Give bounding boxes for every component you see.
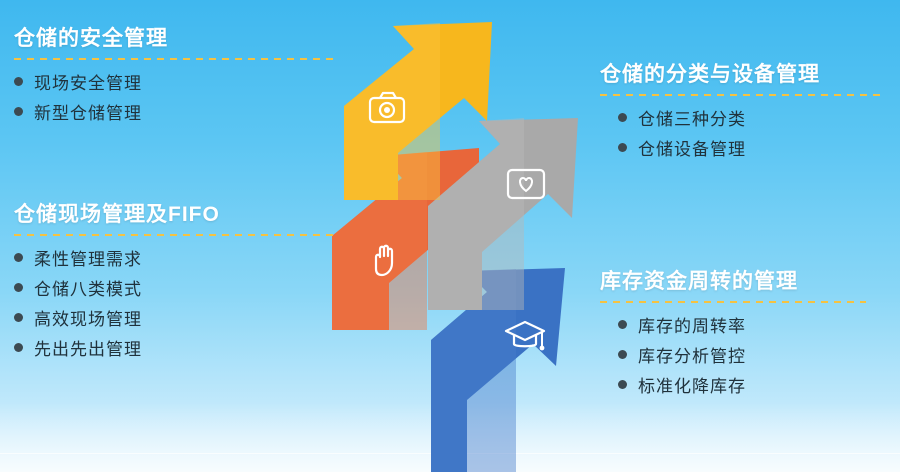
block-safety-title: 仓储的安全管理	[14, 22, 334, 52]
bullet-dot	[14, 343, 23, 352]
block-capital: 库存资金周转的管理 库存的周转率 库存分析管控 标准化降库存	[600, 265, 866, 402]
block-safety: 仓储的安全管理 现场安全管理 新型仓储管理	[14, 22, 334, 129]
block-fifo-title: 仓储现场管理及FIFO	[14, 198, 334, 228]
bullet-label: 仓储八类模式	[34, 275, 142, 300]
bullet-dot	[14, 283, 23, 292]
list-item: 高效现场管理	[14, 305, 334, 330]
bullet-label: 先出先出管理	[34, 335, 142, 360]
list-item: 现场安全管理	[14, 69, 334, 94]
list-item: 仓储设备管理	[618, 135, 886, 160]
title-rule	[600, 94, 886, 96]
bullet-label: 高效现场管理	[34, 305, 142, 330]
bullet-dot	[618, 113, 627, 122]
bullet-dot	[618, 143, 627, 152]
block-classify-title: 仓储的分类与设备管理	[600, 58, 886, 88]
list-item: 新型仓储管理	[14, 99, 334, 124]
bullet-label: 标准化降库存	[638, 372, 746, 397]
list-item: 仓储三种分类	[618, 105, 886, 130]
bullet-label: 库存的周转率	[638, 312, 746, 337]
infographic-canvas: 仓储的安全管理 现场安全管理 新型仓储管理 仓储现场管理及FIFO 柔性管理需求…	[0, 0, 900, 472]
list-item: 仓储八类模式	[14, 275, 334, 300]
bullet-label: 库存分析管控	[638, 342, 746, 367]
bullet-dot	[14, 107, 23, 116]
bullet-dot	[618, 320, 627, 329]
bullet-dot	[618, 380, 627, 389]
bullet-label: 现场安全管理	[34, 69, 142, 94]
list-item: 库存分析管控	[618, 342, 866, 367]
list-item: 库存的周转率	[618, 312, 866, 337]
title-rule	[14, 58, 334, 60]
bullet-dot	[14, 77, 23, 86]
title-rule	[14, 234, 334, 236]
bullet-label: 新型仓储管理	[34, 99, 142, 124]
bullet-dot	[618, 350, 627, 359]
list-item: 标准化降库存	[618, 372, 866, 397]
title-rule	[600, 301, 866, 303]
bullet-label: 仓储三种分类	[638, 105, 746, 130]
list-item: 先出先出管理	[14, 335, 334, 360]
bullet-dot	[14, 313, 23, 322]
bullet-dot	[14, 253, 23, 262]
block-classify: 仓储的分类与设备管理 仓储三种分类 仓储设备管理	[600, 58, 886, 165]
bullet-label: 柔性管理需求	[34, 245, 142, 270]
block-fifo: 仓储现场管理及FIFO 柔性管理需求 仓储八类模式 高效现场管理 先出先出管理	[14, 198, 334, 365]
list-item: 柔性管理需求	[14, 245, 334, 270]
block-capital-title: 库存资金周转的管理	[600, 265, 866, 295]
bullet-label: 仓储设备管理	[638, 135, 746, 160]
